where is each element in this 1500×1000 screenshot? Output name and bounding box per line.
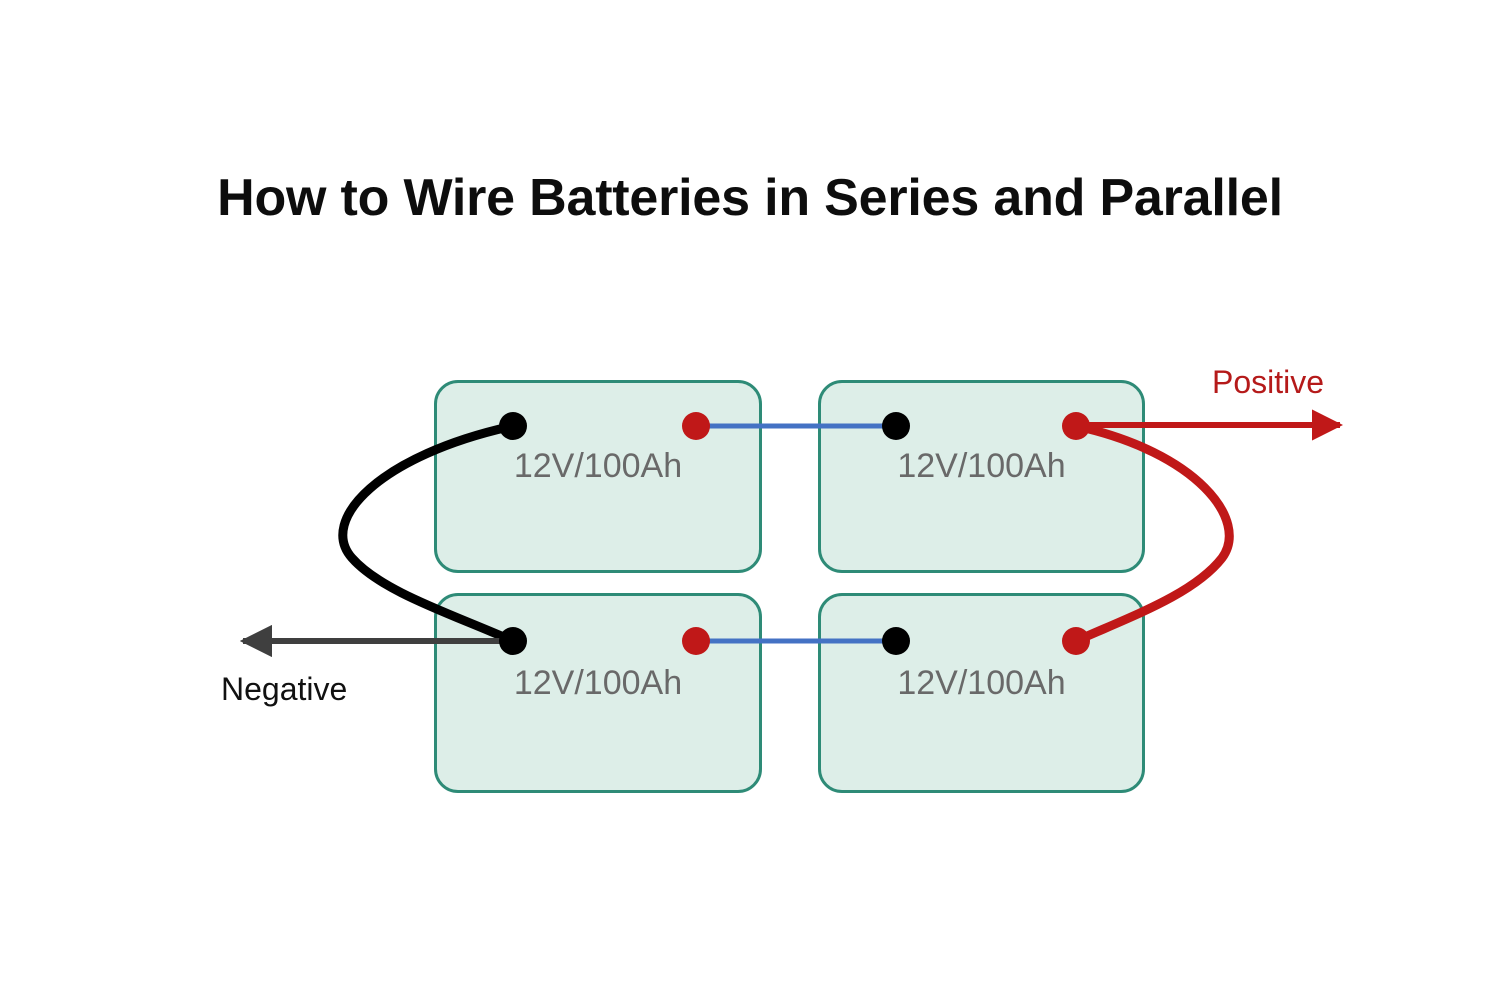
positive-output-label: Positive (1212, 364, 1324, 401)
diagram-canvas: How to Wire Batteries in Series and Para… (0, 0, 1500, 1000)
battery-top-right[interactable]: 12V/100Ah (818, 380, 1145, 573)
negative-terminal-top-right[interactable] (882, 412, 910, 440)
negative-terminal-bottom-left[interactable] (499, 627, 527, 655)
positive-terminal-top-left[interactable] (682, 412, 710, 440)
page-title: How to Wire Batteries in Series and Para… (0, 168, 1500, 228)
battery-bottom-left[interactable]: 12V/100Ah (434, 593, 762, 793)
negative-terminal-bottom-right[interactable] (882, 627, 910, 655)
battery-label: 12V/100Ah (821, 447, 1142, 486)
battery-label: 12V/100Ah (437, 664, 759, 703)
battery-label: 12V/100Ah (437, 447, 759, 486)
negative-output-label: Negative (221, 671, 347, 708)
battery-top-left[interactable]: 12V/100Ah (434, 380, 762, 573)
negative-terminal-top-left[interactable] (499, 412, 527, 440)
positive-terminal-bottom-right[interactable] (1062, 627, 1090, 655)
positive-terminal-top-right[interactable] (1062, 412, 1090, 440)
positive-terminal-bottom-left[interactable] (682, 627, 710, 655)
battery-bottom-right[interactable]: 12V/100Ah (818, 593, 1145, 793)
battery-label: 12V/100Ah (821, 664, 1142, 703)
